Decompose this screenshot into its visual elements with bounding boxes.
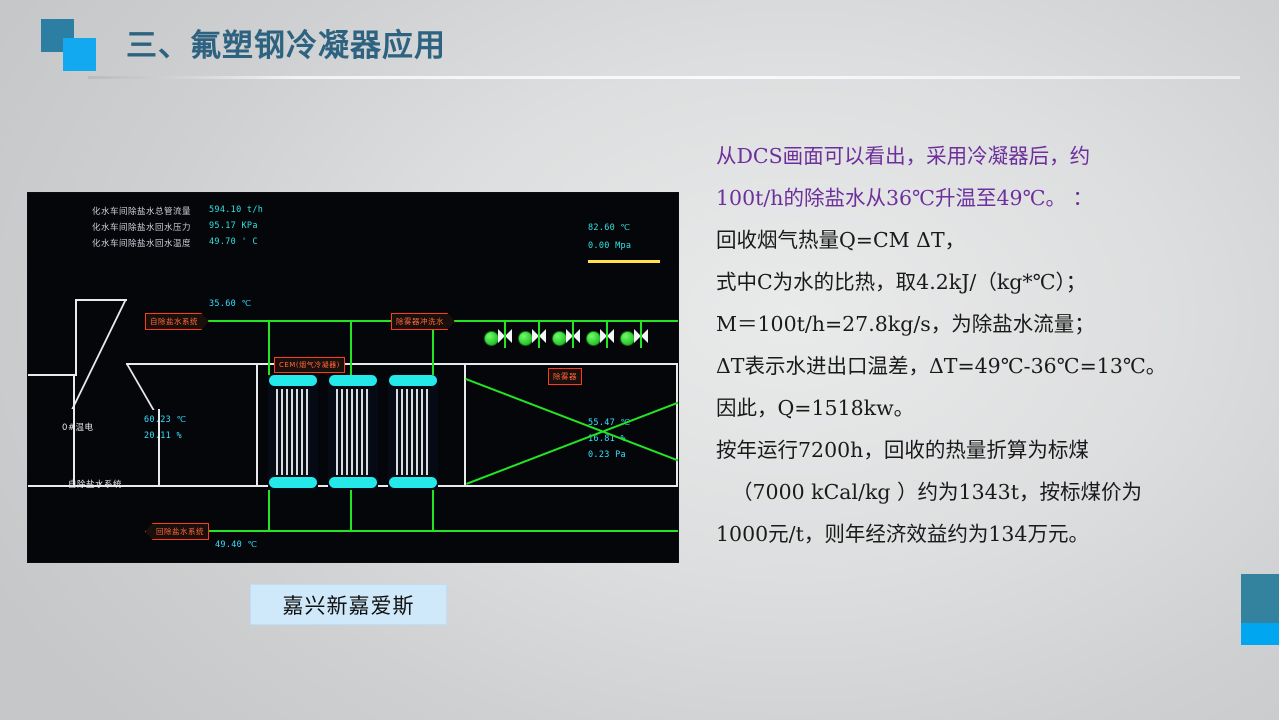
chamber-right-wall <box>676 363 678 487</box>
body-text-line: M＝100t/h=27.8kg/s，为除盐水流量； <box>716 303 1261 345</box>
body-text-line: 按年运行7200h，回收的热量折算为标煤 <box>716 429 1261 471</box>
pipe-riser <box>350 490 352 532</box>
dcs-label-flow: 化水车间除盐水总管流量 <box>92 205 191 217</box>
pipe-riser <box>268 490 270 532</box>
dcs-value-pressure: 95.17 KPa <box>209 221 258 231</box>
tag-demister-wash: 除雾器冲洗水 <box>391 313 455 330</box>
pipe-drop <box>268 320 270 375</box>
valve-stem-pipe <box>640 320 642 348</box>
dcs-label-pressure: 化水车间除盐水回水压力 <box>92 221 191 233</box>
dcs-label-temperature: 化水车间除盐水回水温度 <box>92 237 191 249</box>
label-wet-esp: 0#温电 <box>62 421 94 433</box>
dcs-value-flow: 594.10 t/h <box>209 205 263 215</box>
chamber-divider-1 <box>256 363 258 487</box>
body-text-line: （7000 kCal/kg ）约为1343t，按标煤价为 <box>716 471 1261 513</box>
body-text-line: ΔT表示水进出口温差，ΔT=49℃-36℃=13℃。 <box>716 345 1261 387</box>
body-text-line: 从DCS画面可以看出，采用冷凝器后，约 <box>716 135 1261 177</box>
tube-bundle <box>336 389 370 475</box>
duct-taper-line <box>126 364 155 410</box>
header-divider <box>88 76 1240 79</box>
body-text-line: 式中C为水的比热，取4.2kJ/（kg*℃）； <box>716 261 1261 303</box>
valve-stem-pipe <box>606 320 608 348</box>
page-title: 三、氟塑钢冷凝器应用 <box>126 20 446 65</box>
body-text-line: 1000元/t，则年经济效益约为134万元。 <box>716 513 1261 555</box>
body-text-line: 回收烟气热量Q=CM ΔT， <box>716 219 1261 261</box>
value-right-chamber-pa: 0.23 Pa <box>588 450 626 460</box>
dcs-yellow-bar <box>588 260 660 263</box>
tube-header-bottom <box>269 477 317 488</box>
dcs-value-flue-temp: 82.60 ℃ <box>588 223 630 233</box>
tube-bundle <box>396 389 430 475</box>
slide-root: 三、氟塑钢冷凝器应用 从DCS画面可以看出，采用冷凝器后，约100t/h的除盐水… <box>0 0 1279 720</box>
value-left-chamber-pct: 20.11 % <box>144 431 182 441</box>
tube-module <box>268 375 318 490</box>
value-inlet-temp: 35.60 ℃ <box>209 299 251 309</box>
image-caption: 嘉兴新嘉爱斯 <box>250 584 447 625</box>
tube-header-bottom <box>389 477 437 488</box>
demister-x-stroke <box>466 377 678 485</box>
dcs-screenshot: 化水车间除盐水总管流量 594.10 t/h 化水车间除盐水回水压力 95.17… <box>28 193 678 562</box>
value-return-temp: 49.40 ℃ <box>215 540 257 550</box>
tube-module <box>388 375 438 490</box>
accent-block-teal <box>1241 574 1279 623</box>
logo-square-light <box>63 38 96 71</box>
vessel-outline-seg <box>28 374 76 376</box>
tube-header-top <box>269 375 317 386</box>
valve-stem-pipe <box>572 320 574 348</box>
chamber-divider-2 <box>464 363 466 487</box>
condenser-title-tag: CEM(烟气冷凝器) <box>274 357 345 373</box>
tag-demister: 除雾器 <box>548 368 582 385</box>
pipe-riser <box>432 490 434 532</box>
tube-header-top <box>329 375 377 386</box>
value-left-chamber-temp: 60.23 ℃ <box>144 415 186 425</box>
vessel-outline-seg <box>71 299 127 409</box>
valve-stem-pipe <box>504 320 506 348</box>
duct-top-line <box>126 363 678 365</box>
dcs-value-temperature: 49.70 ' C <box>209 237 258 247</box>
body-text-line: 因此，Q=1518kw。 <box>716 387 1261 429</box>
vessel-outline-seg <box>75 299 77 376</box>
dcs-value-flue-pressure: 0.00 Mpa <box>588 241 631 251</box>
body-text-block: 从DCS画面可以看出，采用冷凝器后，约100t/h的除盐水从36℃升温至49℃。… <box>716 135 1261 555</box>
vessel-outline-seg <box>75 299 127 301</box>
tag-inlet-desalted: 自除盐水系统 <box>145 313 209 330</box>
valve-stem-pipe <box>538 320 540 348</box>
body-text-line: 100t/h的除盐水从36℃升温至49℃。 ： <box>716 177 1261 219</box>
pipe-drop <box>350 320 352 375</box>
pipe-bottom-header <box>198 530 678 532</box>
tube-header-bottom <box>329 477 377 488</box>
tag-return-desalted: 回除盐水系统 <box>145 523 209 540</box>
label-from-desalted: 自除盐水系统 <box>68 478 122 490</box>
tube-header-top <box>389 375 437 386</box>
tube-module <box>328 375 378 490</box>
accent-block-blue <box>1241 623 1279 645</box>
tube-bundle <box>276 389 310 475</box>
